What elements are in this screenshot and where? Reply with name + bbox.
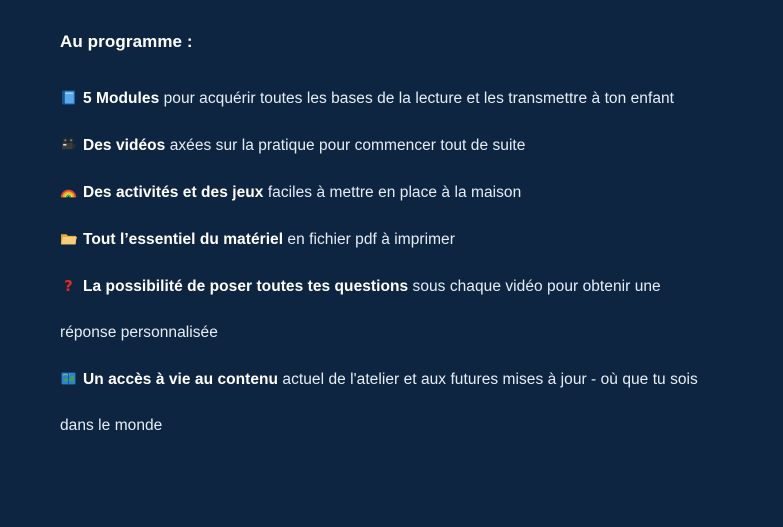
list-item-text: en fichier pdf à imprimer [283, 231, 455, 248]
page-title: Au programme : [60, 30, 739, 54]
list-item-lead: 5 Modules [83, 90, 159, 107]
list-item: ? La possibilité de poser toutes tes que… [60, 264, 720, 356]
list-item: 5 Modules pour acquérir toutes les bases… [60, 76, 720, 122]
list-item-lead: La possibilité de poser toutes tes quest… [83, 278, 408, 295]
list-item-lead: Tout l’essentiel du matériel [83, 231, 283, 248]
list-item-text: faciles à mettre en place à la maison [263, 184, 521, 201]
list-item: Un accès à vie au contenu actuel de l'at… [60, 357, 720, 449]
list-item-text: axées sur la pratique pour commencer tou… [165, 137, 525, 154]
rainbow-icon [60, 183, 77, 200]
svg-text:?: ? [64, 277, 73, 294]
world-map-icon [60, 370, 77, 387]
program-feature-list: 5 Modules pour acquérir toutes les bases… [60, 76, 739, 449]
list-item-lead: Des vidéos [83, 137, 165, 154]
movie-camera-icon [60, 136, 77, 153]
list-item: Tout l’essentiel du matériel en fichier … [60, 217, 720, 263]
program-content-panel: Au programme : 5 Modules pour acquérir t… [0, 0, 783, 527]
list-item: Des activités et des jeux faciles à mett… [60, 170, 720, 216]
blue-book-icon [60, 89, 77, 106]
list-item-text: pour acquérir toutes les bases de la lec… [159, 90, 674, 107]
list-item: Des vidéos axées sur la pratique pour co… [60, 123, 720, 169]
red-question-mark-icon: ? [60, 277, 77, 294]
open-folder-icon [60, 230, 77, 247]
list-item-lead: Un accès à vie au contenu [83, 371, 278, 388]
list-item-lead: Des activités et des jeux [83, 184, 263, 201]
